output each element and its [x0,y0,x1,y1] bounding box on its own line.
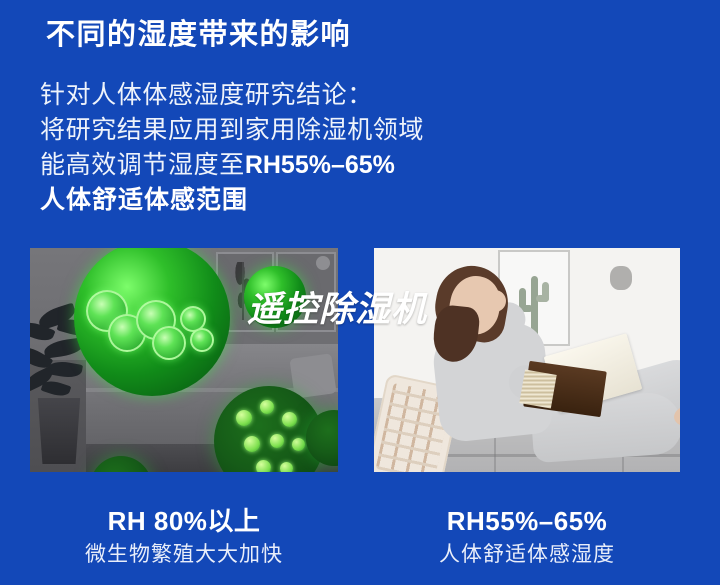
caption-right-title: RH55%–65% [374,505,680,537]
virus-spike [270,434,284,448]
body-line-3-emphasis: RH55%–65% [245,151,395,179]
body-line-4: 人体舒适体感范围 [40,183,510,218]
microbe-cell [152,326,186,360]
dark-sofa-cushion [289,353,336,398]
virus-spike [282,412,297,427]
virus-spike [256,460,271,472]
virus-spike [236,410,252,426]
page-title: 不同的湿度带来的影响 [46,18,351,53]
microbe-cell [190,328,214,352]
watermark-text: 遥控除湿机 [247,281,427,332]
virus-spike [280,462,293,472]
promo-banner: 不同的湿度带来的影响 针对人体体感湿度研究结论： 将研究结果应用到家用除湿机领域… [0,0,720,585]
book-page-edges [519,369,556,408]
caption-high-humidity: RH 80%以上 微生物繁殖大大加快 [30,505,338,570]
body-line-1: 针对人体体感湿度研究结论： [40,78,510,113]
virus-spike [260,400,274,414]
body-line-2: 将研究结果应用到家用除湿机领域 [40,113,510,148]
caption-left-title: RH 80%以上 [30,505,338,537]
wall-speaker-icon [610,266,632,290]
caption-comfort-humidity: RH55%–65% 人体舒适体感湿度 [374,505,680,570]
caption-left-subtitle: 微生物繁殖大大加快 [30,540,338,570]
body-line-3-text: 能高效调节湿度至 [40,151,245,179]
body-copy: 针对人体体感湿度研究结论： 将研究结果应用到家用除湿机领域 能高效调节湿度至RH… [40,78,510,218]
body-line-3: 能高效调节湿度至RH55%–65% [40,148,510,183]
virus-spike [292,438,305,451]
caption-right-subtitle: 人体舒适体感湿度 [374,540,680,570]
woman-hand [484,290,506,312]
virus-spike [244,436,260,452]
wall-knob-icon [316,256,330,270]
